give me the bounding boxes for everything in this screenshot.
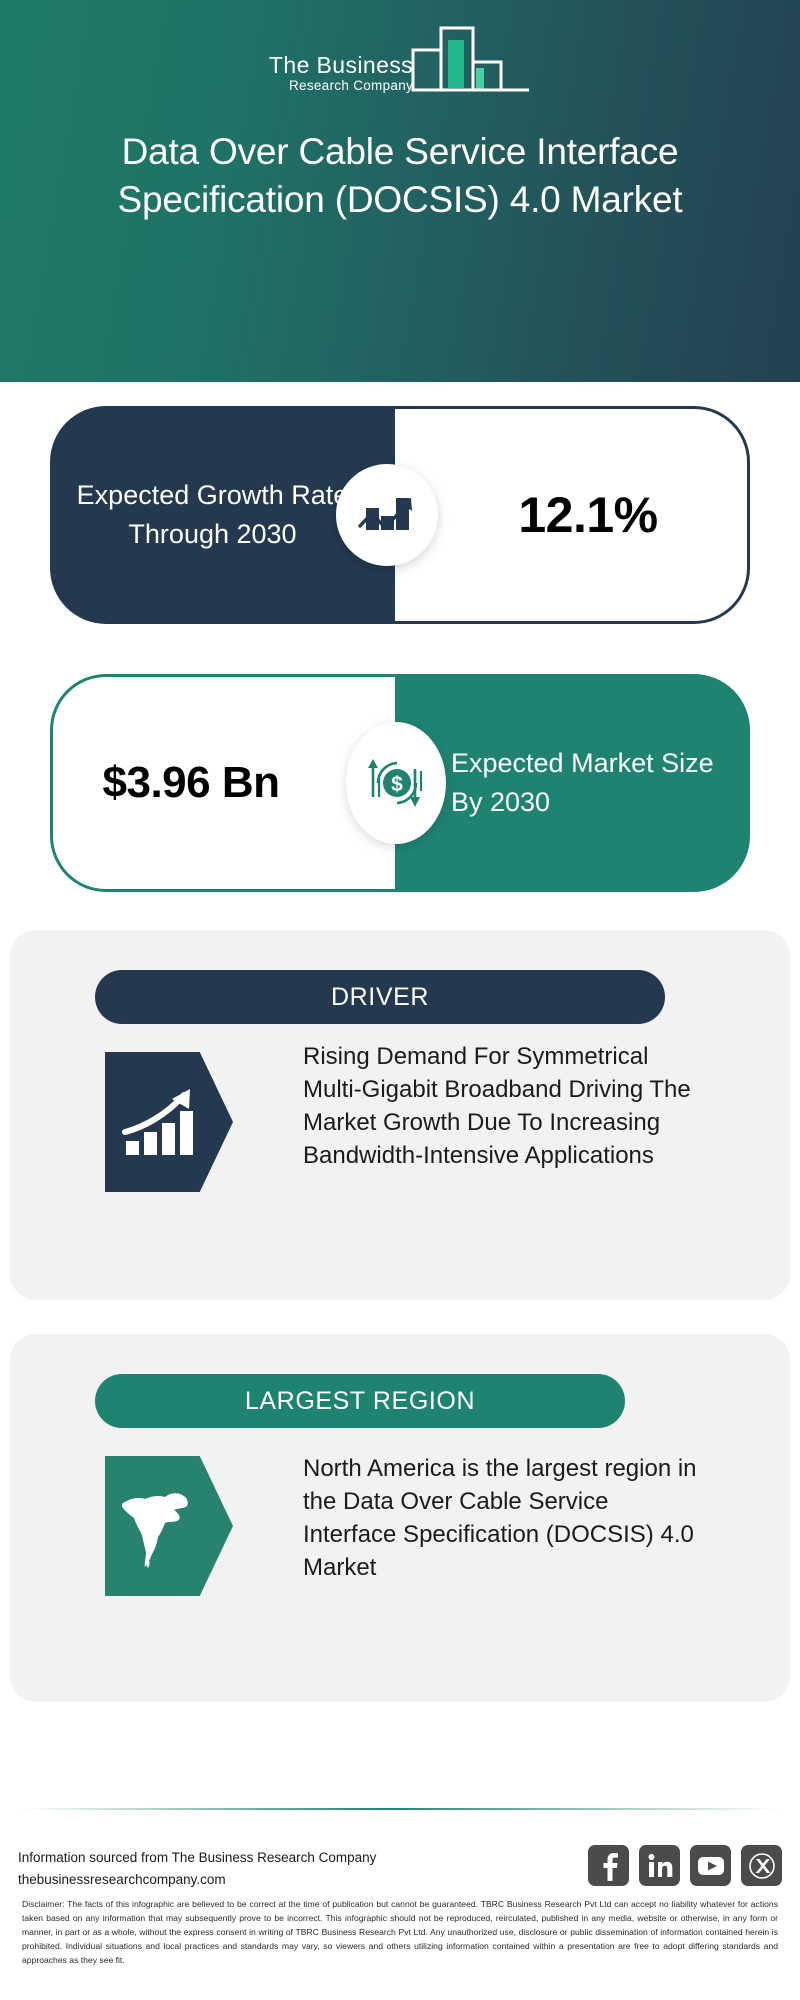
driver-body-text: Rising Demand For Symmetrical Multi-Giga… — [303, 1040, 703, 1172]
dollar-cycle-icon: $ — [346, 722, 446, 844]
page-title: Data Over Cable Service Interface Specif… — [50, 128, 750, 225]
market-size-label-panel: Expected Market Size By 2030 — [395, 674, 750, 892]
driver-panel: DRIVER Rising Demand For Symmetrical Mul… — [10, 930, 790, 1300]
footer-source: Information sourced from The Business Re… — [18, 1847, 376, 1892]
north-america-map-icon — [105, 1456, 233, 1596]
growth-bar-chart-arrow-icon — [336, 464, 438, 566]
stat-card-market-size: $3.96 Bn Expected Market Size By 2030 $ — [50, 674, 750, 892]
svg-text:$: $ — [391, 773, 403, 796]
growth-rate-value: 12.1% — [484, 486, 657, 544]
youtube-icon[interactable] — [690, 1845, 731, 1886]
logo-line-2: Research Company — [289, 77, 413, 95]
facebook-icon[interactable] — [588, 1845, 629, 1886]
linkedin-icon[interactable] — [639, 1845, 680, 1886]
footer-source-line-1: Information sourced from The Business Re… — [18, 1847, 376, 1869]
growth-rate-value-panel: 12.1% — [395, 406, 750, 624]
header-banner: The Business Research Company Data Over … — [0, 0, 800, 382]
market-size-value: $3.96 Bn — [103, 756, 346, 810]
x-twitter-icon[interactable] — [741, 1845, 782, 1886]
logo-line-1: The Business — [269, 53, 413, 77]
market-size-label: Expected Market Size By 2030 — [395, 744, 750, 823]
growth-arrow-bars-icon — [105, 1052, 233, 1192]
largest-region-pill-label: LARGEST REGION — [95, 1374, 625, 1428]
social-links — [588, 1845, 782, 1886]
footer-divider — [20, 1808, 780, 1810]
market-size-value-panel: $3.96 Bn — [50, 674, 395, 892]
company-logo: The Business Research Company — [0, 22, 800, 99]
bar-chart-logo-mark — [411, 22, 531, 99]
largest-region-panel: LARGEST REGION North America is the larg… — [10, 1334, 790, 1702]
footer-source-line-2[interactable]: thebusinessresearchcompany.com — [18, 1869, 376, 1891]
disclaimer-text: Disclaimer: The facts of this infographi… — [22, 1898, 778, 1968]
logo-wordmark: The Business Research Company — [269, 53, 413, 99]
largest-region-body-text: North America is the largest region in t… — [303, 1452, 703, 1584]
stat-card-growth-rate: Expected Growth Rate Through 2030 12.1% — [50, 406, 750, 624]
infographic-page: The Business Research Company Data Over … — [0, 0, 800, 2000]
driver-pill-label: DRIVER — [95, 970, 665, 1024]
